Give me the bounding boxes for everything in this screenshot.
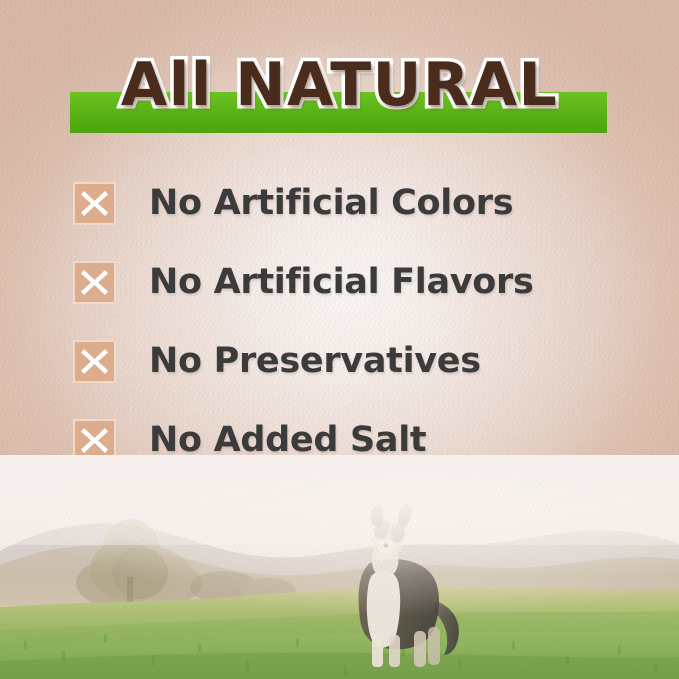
claim-label: No Artificial Colors bbox=[149, 183, 513, 223]
x-mark-icon bbox=[73, 261, 116, 304]
headline-text: All NATURAL bbox=[0, 52, 679, 118]
claim-row: No Artificial Colors bbox=[73, 180, 633, 226]
headline-banner: All NATURAL bbox=[0, 52, 679, 134]
claim-row: No Preservatives bbox=[73, 338, 633, 384]
claim-row: No Artificial Flavors bbox=[73, 259, 633, 305]
claim-label: No Added Salt bbox=[149, 420, 426, 460]
claim-label: No Preservatives bbox=[149, 341, 481, 381]
product-claims-poster: All NATURAL No Artificial Colors No Arti… bbox=[0, 0, 679, 679]
claims-list: No Artificial Colors No Artificial Flavo… bbox=[73, 180, 633, 496]
claim-label: No Artificial Flavors bbox=[149, 262, 534, 302]
dog-landscape-photo bbox=[0, 455, 679, 679]
x-mark-icon bbox=[73, 182, 116, 225]
x-mark-icon bbox=[73, 340, 116, 383]
